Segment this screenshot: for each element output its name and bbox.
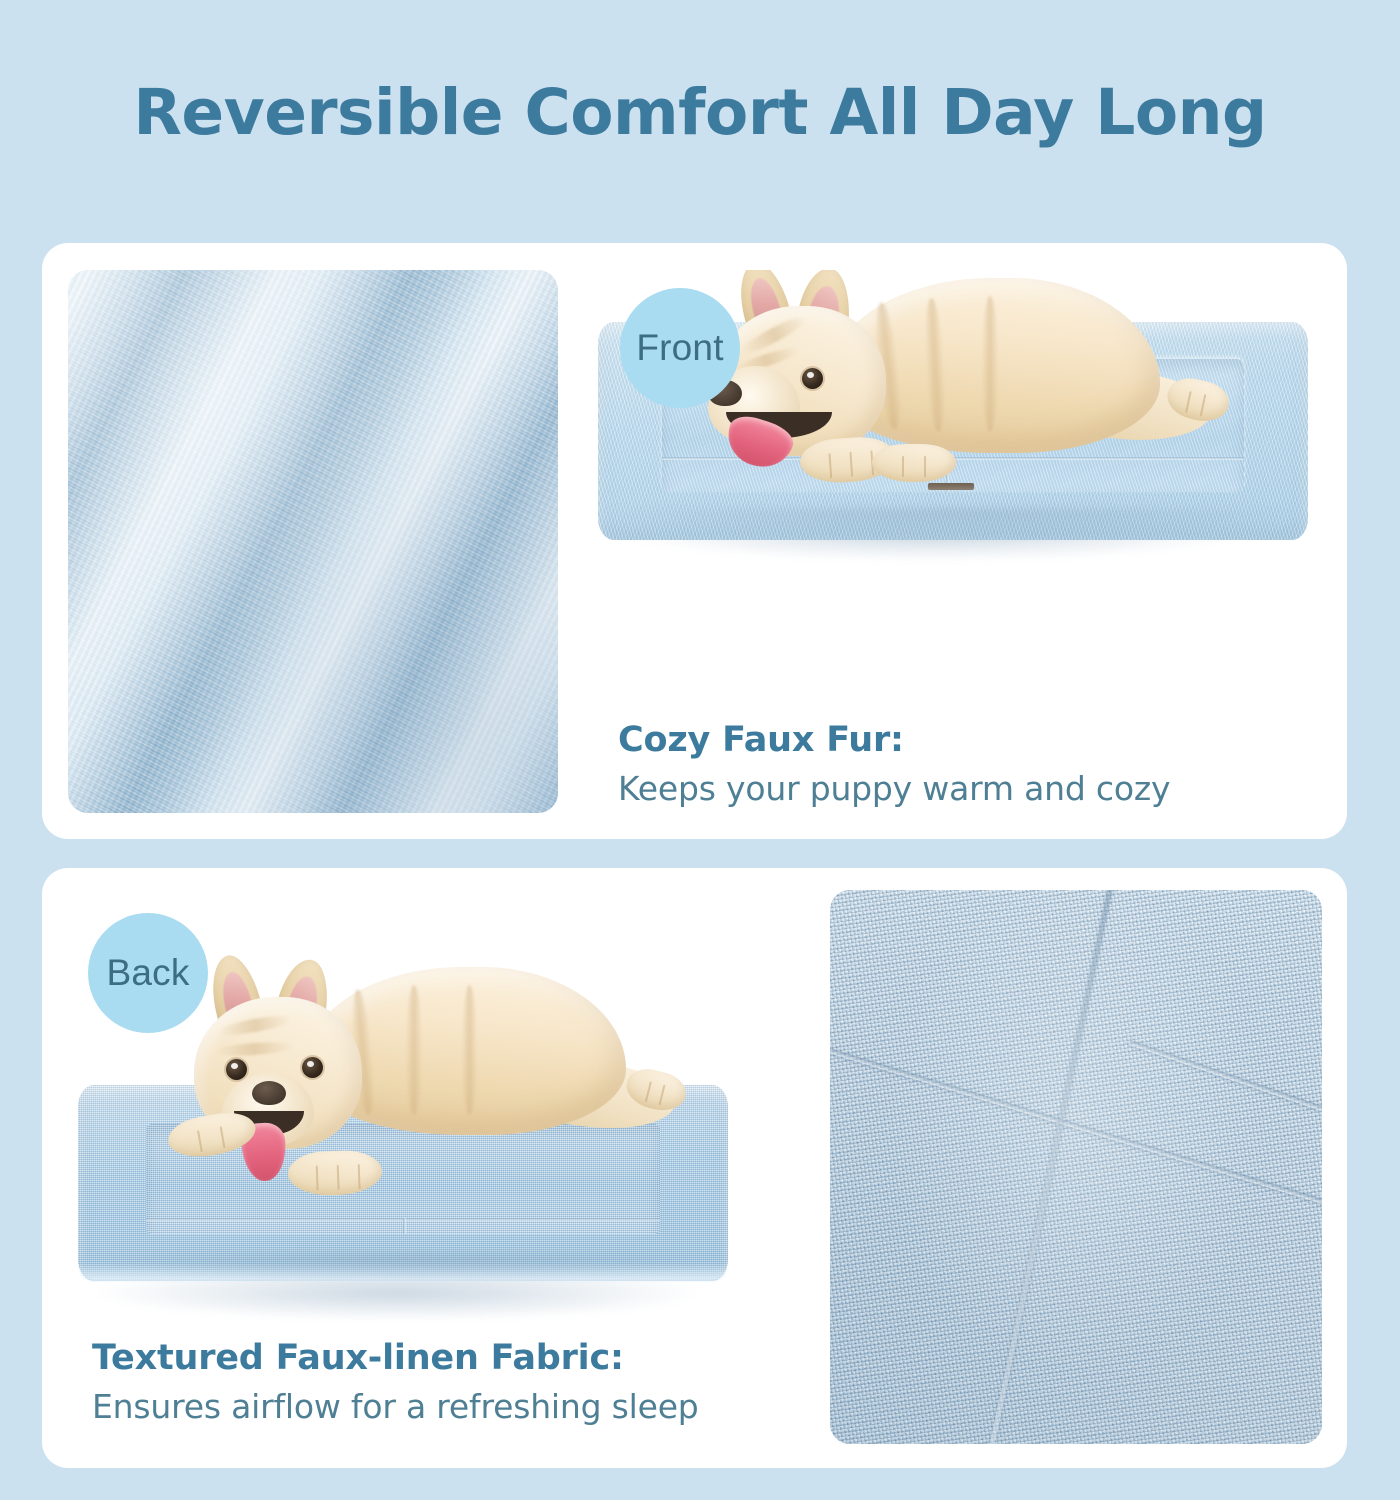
dog-toe-line bbox=[1185, 391, 1192, 413]
caption-front: Cozy Faux Fur: Keeps your puppy warm and… bbox=[618, 720, 1170, 808]
dog-toe-line bbox=[902, 456, 904, 477]
dog-toe-line bbox=[828, 453, 832, 478]
dog-body-fold bbox=[406, 985, 422, 1115]
badge-front: Front bbox=[620, 288, 740, 408]
page-title: Reversible Comfort All Day Long bbox=[0, 76, 1400, 149]
bed-ground-shadow bbox=[85, 1253, 722, 1284]
dog-eye-right bbox=[302, 1057, 323, 1078]
badge-front-label: Front bbox=[636, 327, 723, 369]
dog-body-fold bbox=[982, 296, 998, 432]
badge-back-label: Back bbox=[106, 952, 189, 994]
caption-front-title: Cozy Faux Fur: bbox=[618, 720, 1170, 760]
dog-toe-line bbox=[219, 1126, 225, 1148]
badge-back: Back bbox=[88, 913, 208, 1033]
caption-front-subtitle: Keeps your puppy warm and cozy bbox=[618, 769, 1170, 808]
faux-linen-texture-image bbox=[830, 890, 1322, 1444]
french-bulldog-back bbox=[156, 955, 676, 1215]
dog-front-paw-right bbox=[287, 1149, 382, 1196]
dog-toe-line bbox=[357, 1164, 360, 1189]
dog-nose bbox=[252, 1081, 286, 1105]
linen-shading-layer bbox=[830, 890, 1322, 1444]
dog-eye-left bbox=[226, 1059, 247, 1080]
dog-toe-line bbox=[197, 1130, 203, 1152]
dog-toe-line bbox=[849, 452, 853, 477]
dog-body-fold bbox=[462, 985, 477, 1115]
french-bulldog-front bbox=[682, 270, 1202, 532]
card-back: Textured Faux-linen Fabric: Ensures airf… bbox=[42, 868, 1347, 1468]
fur-shading-layer bbox=[68, 270, 558, 813]
caption-back: Textured Faux-linen Fabric: Ensures airf… bbox=[92, 1338, 699, 1426]
caption-back-title: Textured Faux-linen Fabric: bbox=[92, 1338, 699, 1378]
dog-toe-line bbox=[644, 1081, 651, 1102]
dog-toe-line bbox=[658, 1085, 665, 1106]
dog-toe-line bbox=[1200, 394, 1207, 416]
faux-fur-texture-image bbox=[68, 270, 558, 813]
dog-toe-line bbox=[316, 1166, 319, 1191]
bed-vertical-seam bbox=[403, 1218, 406, 1234]
dog-toe-line bbox=[924, 456, 926, 477]
caption-back-subtitle: Ensures airflow for a refreshing sleep bbox=[92, 1387, 699, 1426]
dog-toe-line bbox=[337, 1165, 340, 1190]
dog-eye bbox=[802, 368, 823, 389]
dog-front-paw-right bbox=[872, 444, 956, 482]
